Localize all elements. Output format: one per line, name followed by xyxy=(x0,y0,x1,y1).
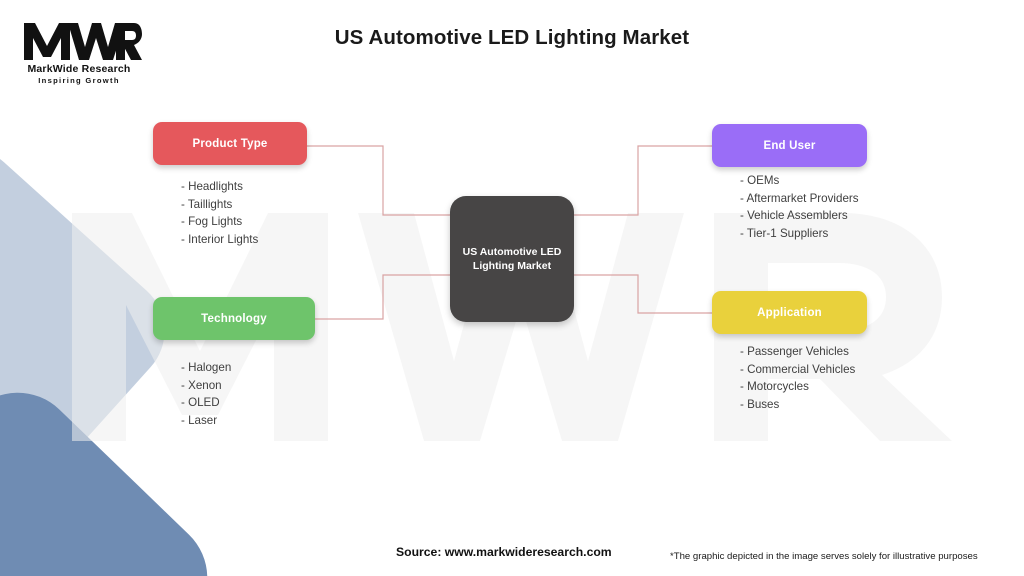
list-item: - Buses xyxy=(740,396,855,414)
branch-label-technology: Technology xyxy=(201,313,267,325)
branch-label-product-type: Product Type xyxy=(192,138,267,150)
connector-application xyxy=(574,275,712,313)
list-item: - Headlights xyxy=(181,178,258,196)
list-item: - Aftermarket Providers xyxy=(740,190,859,208)
list-item: - Commercial Vehicles xyxy=(740,361,855,379)
infographic-canvas: MarkWide Research Inspiring Growth US Au… xyxy=(0,0,1024,576)
list-item: - Passenger Vehicles xyxy=(740,343,855,361)
list-item: - Tier-1 Suppliers xyxy=(740,225,859,243)
list-item: - Vehicle Assemblers xyxy=(740,207,859,225)
branch-label-end-user: End User xyxy=(763,140,815,152)
branch-end-user[interactable]: End User xyxy=(712,124,867,167)
branch-label-application: Application xyxy=(757,307,822,319)
list-item: - Fog Lights xyxy=(181,213,258,231)
list-item: - OLED xyxy=(181,394,231,412)
item-list-application: - Passenger Vehicles - Commercial Vehicl… xyxy=(740,343,855,413)
item-list-product-type: - Headlights - Taillights - Fog Lights -… xyxy=(181,178,258,248)
item-list-technology: - Halogen - Xenon - OLED - Laser xyxy=(181,359,231,429)
list-item: - Xenon xyxy=(181,377,231,395)
branch-application[interactable]: Application xyxy=(712,291,867,334)
branch-product-type[interactable]: Product Type xyxy=(153,122,307,165)
connector-end-user xyxy=(574,146,712,215)
branch-technology[interactable]: Technology xyxy=(153,297,315,340)
hub-label: US Automotive LED Lighting Market xyxy=(450,245,574,273)
item-list-end-user: - OEMs - Aftermarket Providers - Vehicle… xyxy=(740,172,859,242)
list-item: - Laser xyxy=(181,412,231,430)
list-item: - Interior Lights xyxy=(181,231,258,249)
connector-technology xyxy=(315,275,450,319)
list-item: - Taillights xyxy=(181,196,258,214)
list-item: - Motorcycles xyxy=(740,378,855,396)
list-item: - OEMs xyxy=(740,172,859,190)
list-item: - Halogen xyxy=(181,359,231,377)
disclaimer-label: *The graphic depicted in the image serve… xyxy=(670,551,978,562)
hub-node: US Automotive LED Lighting Market xyxy=(450,196,574,322)
connector-product-type xyxy=(307,146,450,215)
source-label: Source: www.markwideresearch.com xyxy=(396,545,612,559)
